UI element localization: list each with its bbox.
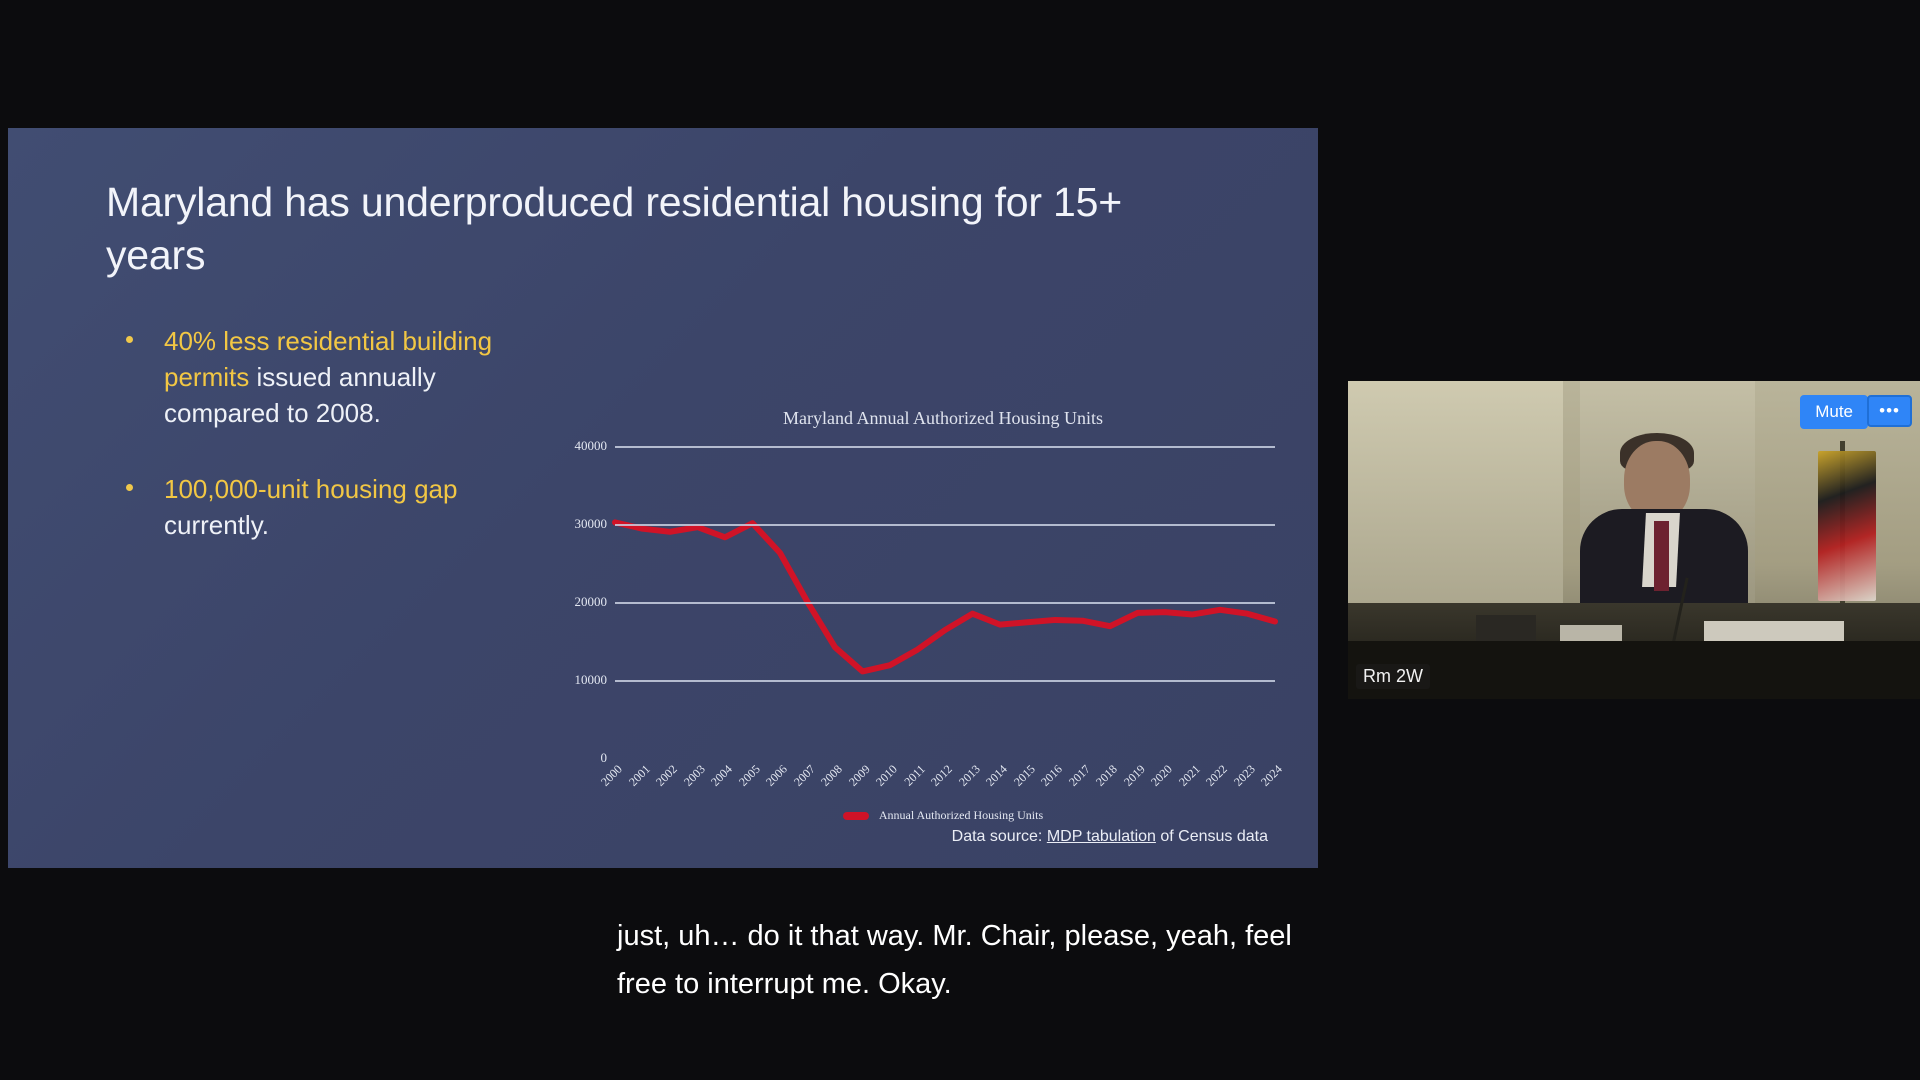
chart-x-tick-label: 2024 [1258, 762, 1286, 790]
chart-x-tick-label: 2010 [873, 762, 901, 790]
chart-x-tick-label: 2018 [1093, 762, 1121, 790]
presentation-slide: Maryland has underproduced residential h… [8, 128, 1318, 868]
bullet-rest: currently. [164, 510, 269, 540]
housing-units-chart: Maryland Annual Authorized Housing Units… [573, 408, 1313, 828]
chart-x-tick-label: 2023 [1231, 762, 1259, 790]
chart-gridline [615, 680, 1275, 682]
chart-series-line [615, 522, 1275, 671]
data-source-note: Data source: MDP tabulation of Census da… [8, 828, 1318, 846]
chart-x-tick-label: 2022 [1203, 762, 1231, 790]
chart-y-tick-label: 0 [601, 750, 608, 766]
desk-papers [1704, 621, 1844, 641]
bullet-dot-icon [126, 336, 133, 343]
chart-gridline [615, 524, 1275, 526]
desk-papers-secondary [1560, 625, 1622, 641]
bullet-text: 100,000-unit housing gap currently. [164, 474, 457, 540]
screen-root: Maryland has underproduced residential h… [0, 0, 1920, 1080]
chart-x-tick-label: 2005 [736, 762, 764, 790]
chart-x-tick-label: 2002 [653, 762, 681, 790]
chart-x-tick-label: 2004 [708, 762, 736, 790]
chart-x-tick-label: 2001 [626, 762, 654, 790]
data-source-suffix: of Census data [1156, 828, 1268, 845]
chart-plot-area: 010000200003000040000 [615, 446, 1275, 758]
list-item: 100,000-unit housing gap currently. [116, 471, 536, 543]
person-tie [1654, 521, 1669, 591]
bullet-dot-icon [126, 484, 133, 491]
more-options-button[interactable]: ••• [1867, 395, 1912, 427]
chart-x-tick-label: 2008 [818, 762, 846, 790]
chart-x-tick-label: 2020 [1148, 762, 1176, 790]
desk-front [1348, 641, 1920, 699]
desk-object [1476, 615, 1536, 641]
bullet-text: 40% less residential building permits is… [164, 326, 492, 428]
chart-x-tick-label: 2021 [1176, 762, 1204, 790]
video-feed-panel[interactable]: Mute ••• Rm 2W [1348, 381, 1920, 699]
live-caption-text: just, uh… do it that way. Mr. Chair, ple… [617, 912, 1337, 1008]
slide-title: Maryland has underproduced residential h… [106, 176, 1176, 282]
chart-x-tick-label: 2019 [1121, 762, 1149, 790]
chart-title: Maryland Annual Authorized Housing Units [573, 408, 1313, 429]
list-item: 40% less residential building permits is… [116, 323, 536, 431]
chart-gridline [615, 446, 1275, 448]
chart-y-tick-label: 30000 [575, 516, 608, 532]
chart-x-tick-label: 2015 [1011, 762, 1039, 790]
bullet-list: 40% less residential building permits is… [116, 323, 536, 583]
data-source-prefix: Data source: [952, 828, 1047, 845]
chart-y-tick-label: 40000 [575, 438, 608, 454]
chart-x-tick-label: 2016 [1038, 762, 1066, 790]
chart-x-tick-label: 2009 [846, 762, 874, 790]
chart-x-tick-label: 2003 [681, 762, 709, 790]
chart-x-axis: 2000200120022003200420052006200720082009… [615, 758, 1275, 814]
chart-x-tick-label: 2013 [956, 762, 984, 790]
chart-x-tick-label: 2017 [1066, 762, 1094, 790]
chart-gridline [615, 602, 1275, 604]
chart-legend: Annual Authorized Housing Units [573, 808, 1313, 823]
chart-x-tick-label: 2014 [983, 762, 1011, 790]
maryland-flag [1818, 451, 1876, 601]
chart-x-tick-label: 2006 [763, 762, 791, 790]
chart-x-tick-label: 2007 [791, 762, 819, 790]
legend-swatch-icon [843, 812, 869, 820]
chart-y-tick-label: 20000 [575, 594, 608, 610]
chart-y-tick-label: 10000 [575, 672, 608, 688]
bullet-highlight: 100,000-unit housing gap [164, 474, 457, 504]
data-source-link[interactable]: MDP tabulation [1047, 828, 1156, 845]
chart-x-tick-label: 2011 [901, 762, 928, 789]
legend-label: Annual Authorized Housing Units [879, 808, 1043, 823]
chart-x-tick-label: 2012 [928, 762, 956, 790]
chart-x-tick-label: 2000 [598, 762, 626, 790]
mute-button[interactable]: Mute [1800, 395, 1868, 429]
room-name-label: Rm 2W [1356, 664, 1430, 689]
